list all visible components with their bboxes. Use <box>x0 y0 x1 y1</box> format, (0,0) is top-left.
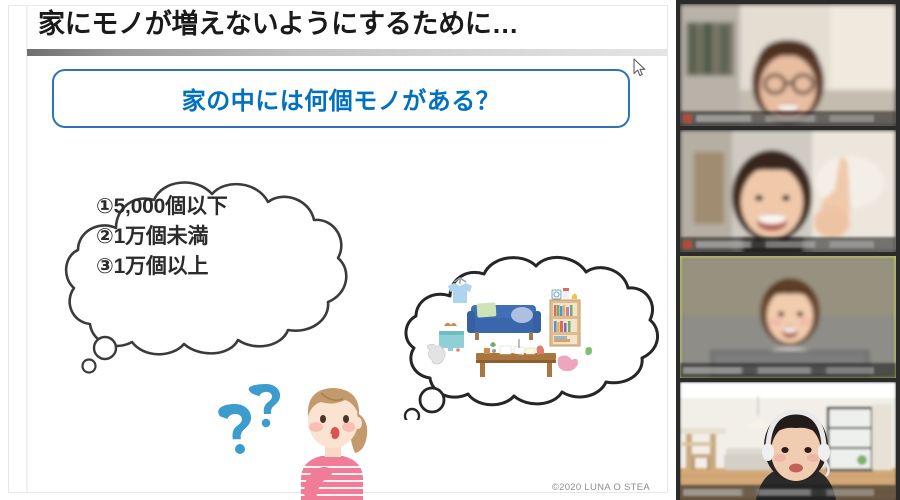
participant-name-bar-1 <box>680 111 896 126</box>
participant-name-1 <box>696 115 874 122</box>
shared-slide[interactable]: 家にモノが増えないようにするために… 家の中には何個モノがある？ ①5,000個… <box>0 0 676 500</box>
participant-name-bar-3 <box>680 363 896 378</box>
participant-name-3 <box>683 367 874 374</box>
participant-name-bar-2 <box>680 237 896 252</box>
option-item-2: ②1万個未満 <box>96 222 346 252</box>
title-divider <box>27 49 667 56</box>
mouse-pointer-icon <box>633 58 647 77</box>
participant-name-4 <box>683 489 874 496</box>
video-feed-1 <box>680 4 896 126</box>
video-feed-2 <box>680 130 896 252</box>
thinking-person-illustration <box>275 375 380 500</box>
option-item-1: ①5,000個以下 <box>96 192 346 222</box>
page-title: 家にモノが増えないようにするために… <box>38 8 648 42</box>
participant-name-2 <box>696 241 874 248</box>
slide-left-rule <box>26 5 28 492</box>
options-list: ①5,000個以下 ②1万個未満 ③1万個以上 <box>96 192 346 281</box>
video-tile-1[interactable] <box>680 4 896 126</box>
video-feed-4 <box>680 382 896 500</box>
video-tile-3[interactable] <box>680 256 896 378</box>
mic-muted-icon <box>683 240 692 249</box>
screen-share-window: 家にモノが増えないようにするために… 家の中には何個モノがある？ ①5,000個… <box>0 0 900 500</box>
option-item-3: ③1万個以上 <box>96 252 346 282</box>
copyright-notice: ©2020 LUNA O STEA <box>552 482 650 493</box>
video-tile-2[interactable] <box>680 130 896 252</box>
participant-video-strip <box>676 0 900 500</box>
question-callout-box: 家の中には何個モノがある？ <box>52 69 630 128</box>
participant-name-bar-4 <box>680 485 896 500</box>
mic-muted-icon <box>683 114 692 123</box>
question-text: 家の中には何個モノがある？ <box>182 81 501 116</box>
room-thought-bubble <box>398 248 670 420</box>
video-tile-4[interactable] <box>680 382 896 500</box>
video-feed-3 <box>680 256 896 378</box>
